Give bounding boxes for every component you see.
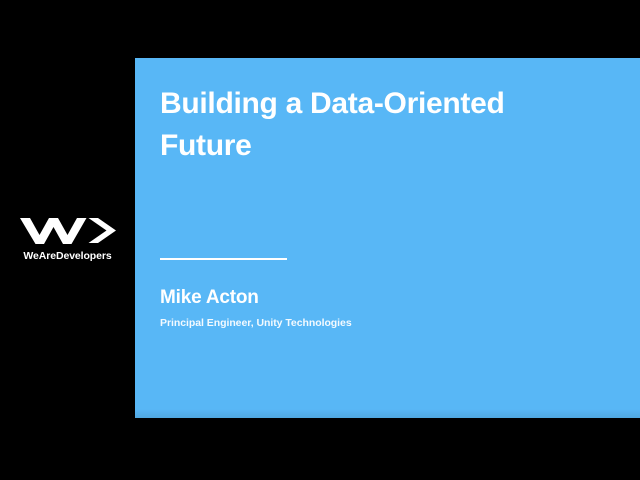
page-title-line-2: Future	[160, 125, 580, 167]
wearedevelopers-logo-icon	[18, 216, 118, 245]
brand-rail: WeAreDevelopers	[0, 0, 135, 480]
title-panel: Building a Data-Oriented Future Mike Act…	[135, 58, 640, 418]
panel-bottom-shade	[135, 409, 640, 418]
title-divider	[160, 258, 287, 260]
page-title-line-1: Building a Data-Oriented	[160, 83, 580, 125]
speaker-name: Mike Acton	[160, 286, 259, 310]
speaker-role: Principal Engineer, Unity Technologies	[160, 316, 352, 330]
brand-lockup: WeAreDevelopers	[0, 216, 135, 262]
page-title: Building a Data-Oriented Future	[160, 83, 580, 167]
presentation-slide: WeAreDevelopers Building a Data-Oriented…	[0, 0, 640, 480]
brand-wordmark: WeAreDevelopers	[0, 250, 135, 262]
